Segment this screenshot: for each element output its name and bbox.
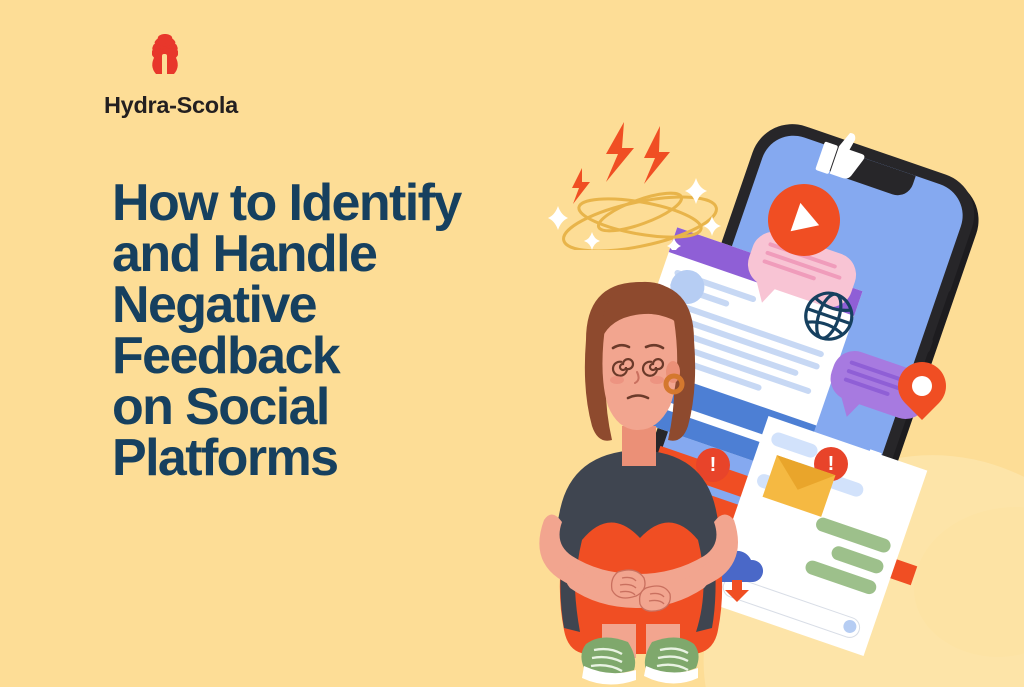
character-emotion-effects (540, 120, 740, 250)
character-illustration (510, 220, 770, 687)
brand-wordmark: Hydra-Scola (104, 92, 364, 119)
hero-illustration: ! ! (500, 120, 1024, 687)
sunburst-icon (130, 34, 200, 86)
brand-logo[interactable]: Hydra-Scola (104, 34, 364, 119)
play-triangle (791, 203, 824, 240)
chat-bubble-outgoing (814, 516, 892, 555)
cover-canvas: Hydra-Scola How to Identify and Handle N… (0, 0, 1024, 687)
